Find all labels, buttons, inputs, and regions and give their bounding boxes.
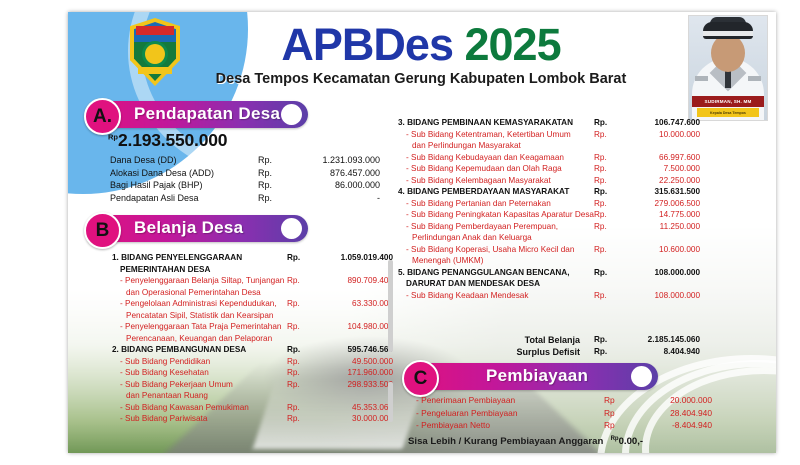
- item-label: - Pengelolaan Administrasi Kependudukan,: [120, 299, 277, 308]
- item-value: 876.457.000: [272, 168, 380, 178]
- list-item: DARURAT DAN MENDESAK DESA: [398, 279, 708, 291]
- item-label: 1. BIDANG PENYELENGGARAAN: [112, 253, 242, 262]
- divider-bar-1: [388, 260, 393, 352]
- item-currency: Rp.: [287, 414, 300, 423]
- list-item: Bagi Hasil Pajak (BHP)Rp.86.000.000: [110, 180, 390, 193]
- pendapatan-currency: Rp: [108, 133, 118, 142]
- item-value: 11.250.000: [608, 222, 700, 231]
- section-c-knob-icon: [631, 366, 652, 387]
- title-main: APBDes: [281, 19, 453, 70]
- item-label: Dana Desa (DD): [110, 155, 177, 165]
- belanja-left-list: 1. BIDANG PENYELENGGARAANRp.1.059.019.40…: [112, 253, 412, 426]
- item-value: 1.231.093.000: [272, 155, 380, 165]
- sisa-value: 0.00,-: [619, 436, 644, 447]
- belanja-totals: Total BelanjaRp.2.185.145.060Surplus Def…: [398, 335, 708, 359]
- item-label: - Sub Bidang Koperasi, Usaha Micro Kecil…: [406, 245, 574, 254]
- item-label: - Pembiayaan Netto: [416, 420, 490, 430]
- item-currency: Rp.: [594, 176, 607, 185]
- list-item: - Penerimaan PembiayaanRp20.000.000: [408, 395, 718, 408]
- item-value: 63.330.000: [301, 299, 393, 308]
- item-currency: Rp.: [287, 380, 300, 389]
- total-currency: Rp.: [594, 335, 607, 344]
- item-label: dan Operasional Pemerintahan Desa: [126, 288, 261, 297]
- lombok-barat-crest-icon: [130, 18, 180, 86]
- item-label: - Penerimaan Pembiayaan: [416, 395, 515, 405]
- total-value: 8.404.940: [608, 347, 700, 356]
- section-b-badge: B: [84, 212, 121, 249]
- item-value: 315.631.500: [608, 187, 700, 196]
- list-item: dan Perlindungan Masyarakat: [398, 141, 708, 153]
- list-item: - Sub Bidang PendidikanRp.49.500.000: [112, 357, 412, 369]
- list-item: Perlindungan Anak dan Keluarga: [398, 233, 708, 245]
- list-item: - Sub Bidang Kelembagaan MasyarakatRp.22…: [398, 176, 708, 188]
- list-item: - Sub Bidang Kepemudaan dan Olah RagaRp.…: [398, 164, 708, 176]
- sisa-label: Sisa Lebih / Kurang Pembiayaan Anggaran: [408, 436, 603, 447]
- item-value: 890.709.400: [301, 276, 393, 285]
- list-item: - Pembiayaan NettoRp-8.404.940: [408, 420, 718, 433]
- list-item: - Sub Bidang Kawasan PemukimanRp.45.353.…: [112, 403, 412, 415]
- item-label: Alokasi Dana Desa (ADD): [110, 168, 214, 178]
- list-item: PEMERINTAHAN DESA: [112, 265, 412, 277]
- section-c-title: Pembiayaan: [486, 366, 588, 386]
- item-value: 30.000.000: [301, 414, 393, 423]
- item-currency: Rp.: [258, 155, 272, 165]
- item-value: 14.775.000: [608, 210, 700, 219]
- list-item: 2. BIDANG PEMBANGUNAN DESARp.595.746.560: [112, 345, 412, 357]
- item-label: Menengah (UMKM): [412, 256, 483, 265]
- total-currency: Rp.: [594, 347, 607, 356]
- item-value: 104.980.000: [301, 322, 393, 331]
- item-currency: Rp: [604, 420, 615, 430]
- section-a-header: A. Pendapatan Desa: [90, 101, 308, 128]
- list-item: - Sub Bidang Ketentraman, Ketertiban Umu…: [398, 130, 708, 142]
- list-item: 5. BIDANG PENANGGULANGAN BENCANA,Rp.108.…: [398, 268, 708, 280]
- item-value: 10.000.000: [608, 130, 700, 139]
- list-item: - Sub Bidang Peningkatan Kapasitas Apara…: [398, 210, 708, 222]
- item-currency: Rp.: [258, 193, 272, 203]
- item-value: 108.000.000: [608, 268, 700, 277]
- item-value: 171.960.000: [301, 368, 393, 377]
- list-item: 3. BIDANG PEMBINAAN KEMASYARAKATANRp.106…: [398, 118, 708, 130]
- item-currency: Rp.: [287, 299, 300, 308]
- title-year: 2025: [464, 19, 560, 70]
- item-value: -8.404.940: [620, 420, 712, 430]
- item-label: 2. BIDANG PEMBANGUNAN DESA: [112, 345, 246, 354]
- section-c-badge: C: [402, 360, 439, 397]
- item-value: 595.746.560: [301, 345, 393, 354]
- item-label: dan Perlindungan Masyarakat: [412, 141, 521, 150]
- list-item: - Sub Bidang Pemberdayaan Perempuan,Rp.1…: [398, 222, 708, 234]
- pembiayaan-list: - Penerimaan PembiayaanRp20.000.000- Pen…: [408, 395, 718, 433]
- item-value: 45.353.060: [301, 403, 393, 412]
- item-value: 20.000.000: [620, 395, 712, 405]
- list-item: dan Operasional Pemerintahan Desa: [112, 288, 412, 300]
- list-item: - Pengeluaran PembiayaanRp28.404.940: [408, 408, 718, 421]
- item-currency: Rp.: [287, 345, 300, 354]
- item-value: 108.000.000: [608, 291, 700, 300]
- item-label: - Sub Bidang Pekerjaan Umum: [120, 380, 233, 389]
- item-currency: Rp: [604, 408, 615, 418]
- list-item: - Sub Bidang KesehatanRp.171.960.000: [112, 368, 412, 380]
- item-currency: Rp.: [594, 199, 607, 208]
- item-label: 4. BIDANG PEMBERDAYAAN MASYARAKAT: [398, 187, 569, 196]
- item-label: - Sub Bidang Pertanian dan Peternakan: [406, 199, 551, 208]
- section-a-title: Pendapatan Desa: [134, 104, 280, 124]
- page-title: APBDes 2025 Desa Tempos Kecamatan Gerung…: [186, 20, 656, 87]
- total-value: 2.185.145.060: [608, 335, 700, 344]
- item-currency: Rp.: [594, 153, 607, 162]
- poster-header: APBDes 2025 Desa Tempos Kecamatan Gerung…: [68, 12, 776, 98]
- item-label: - Sub Bidang Ketentraman, Ketertiban Umu…: [406, 130, 571, 139]
- list-item: - Pengelolaan Administrasi Kependudukan,…: [112, 299, 412, 311]
- section-b-header: B Belanja Desa: [90, 215, 308, 242]
- item-currency: Rp.: [287, 403, 300, 412]
- item-currency: Rp.: [287, 276, 300, 285]
- item-currency: Rp.: [594, 291, 607, 300]
- item-label: - Penyelenggaraan Belanja Siltap, Tunjan…: [120, 276, 284, 285]
- list-item: 4. BIDANG PEMBERDAYAAN MASYARAKATRp.315.…: [398, 187, 708, 199]
- item-label: 3. BIDANG PEMBINAAN KEMASYARAKATAN: [398, 118, 573, 127]
- item-label: - Sub Bidang Pendidikan: [120, 357, 210, 366]
- item-value: 10.600.000: [608, 245, 700, 254]
- divider-bar-2: [388, 382, 393, 422]
- item-label: Pencatatan Sipil, Statistik dan Kearsipa…: [126, 311, 273, 320]
- item-currency: Rp.: [594, 118, 607, 127]
- list-item: - Sub Bidang PariwisataRp.30.000.000: [112, 414, 412, 426]
- item-value: 28.404.940: [620, 408, 712, 418]
- belanja-right-list: 3. BIDANG PEMBINAAN KEMASYARAKATANRp.106…: [398, 118, 708, 302]
- pendapatan-total: Rp2.193.550.000: [108, 130, 227, 151]
- item-currency: Rp.: [594, 130, 607, 139]
- item-currency: Rp: [604, 395, 615, 405]
- item-currency: Rp.: [287, 357, 300, 366]
- list-item: Perencanaan, Keuangan dan Pelaporan: [112, 334, 412, 346]
- item-currency: Rp.: [594, 164, 607, 173]
- item-label: Bagi Hasil Pajak (BHP): [110, 180, 203, 190]
- list-item: - Sub Bidang Pertanian dan PeternakanRp.…: [398, 199, 708, 211]
- item-currency: Rp.: [594, 187, 607, 196]
- section-b-title: Belanja Desa: [134, 218, 243, 238]
- portrait-name: SUDIRMAN, SH. MM: [692, 96, 764, 107]
- item-label: Perlindungan Anak dan Keluarga: [412, 233, 532, 242]
- item-currency: Rp.: [594, 268, 607, 277]
- item-currency: Rp.: [258, 180, 272, 190]
- list-item: Dana Desa (DD)Rp.1.231.093.000: [110, 155, 390, 168]
- section-c-header: C Pembiayaan: [408, 363, 658, 390]
- item-label: - Sub Bidang Keadaan Mendesak: [406, 291, 528, 300]
- item-currency: Rp.: [287, 322, 300, 331]
- list-item: - Sub Bidang Keadaan MendesakRp.108.000.…: [398, 291, 708, 303]
- item-value: 7.500.000: [608, 164, 700, 173]
- item-label: PEMERINTAHAN DESA: [120, 265, 210, 274]
- item-value: 49.500.000: [301, 357, 393, 366]
- item-label: - Sub Bidang Kesehatan: [120, 368, 209, 377]
- item-value: 279.006.500: [608, 199, 700, 208]
- pendapatan-amount: 2.193.550.000: [118, 130, 227, 150]
- item-value: 298.933.500: [301, 380, 393, 389]
- list-item: Alokasi Dana Desa (ADD)Rp.876.457.000: [110, 168, 390, 181]
- item-value: 66.997.600: [608, 153, 700, 162]
- item-currency: Rp.: [287, 368, 300, 377]
- item-label: Perencanaan, Keuangan dan Pelaporan: [126, 334, 272, 343]
- item-label: - Sub Bidang Pariwisata: [120, 414, 207, 423]
- item-label: - Penyelenggaraan Tata Praja Pemerintaha…: [120, 322, 281, 331]
- apbdes-poster: APBDes 2025 Desa Tempos Kecamatan Gerung…: [68, 12, 776, 453]
- item-value: 86.000.000: [272, 180, 380, 190]
- item-value: 1.059.019.400: [301, 253, 393, 262]
- total-label: Total Belanja: [494, 335, 580, 345]
- item-currency: Rp.: [287, 253, 300, 262]
- pembiayaan-footer: Sisa Lebih / Kurang Pembiayaan Anggaran …: [408, 436, 728, 447]
- section-b-knob-icon: [281, 218, 302, 239]
- list-item: - Sub Bidang Pekerjaan UmumRp.298.933.50…: [112, 380, 412, 392]
- list-item: dan Penantaan Ruang: [112, 391, 412, 403]
- item-label: - Sub Bidang Kawasan Pemukiman: [120, 403, 249, 412]
- item-currency: Rp.: [594, 245, 607, 254]
- list-item: Pendapatan Asli DesaRp.-: [110, 193, 390, 206]
- list-item: - Penyelenggaraan Tata Praja Pemerintaha…: [112, 322, 412, 334]
- item-label: - Sub Bidang Peningkatan Kapasitas Apara…: [406, 210, 594, 219]
- item-value: -: [272, 193, 380, 203]
- list-item: Pencatatan Sipil, Statistik dan Kearsipa…: [112, 311, 412, 323]
- item-label: - Sub Bidang Kelembagaan Masyarakat: [406, 176, 551, 185]
- item-label: - Sub Bidang Pemberdayaan Perempuan,: [406, 222, 558, 231]
- item-label: dan Penantaan Ruang: [126, 391, 208, 400]
- item-label: 5. BIDANG PENANGGULANGAN BENCANA,: [398, 268, 570, 277]
- item-value: 22.250.000: [608, 176, 700, 185]
- item-value: 106.747.600: [608, 118, 700, 127]
- pendapatan-item-list: Dana Desa (DD)Rp.1.231.093.000Alokasi Da…: [110, 155, 390, 205]
- total-row: Surplus DefisitRp.8.404.940: [398, 347, 708, 359]
- item-label: - Sub Bidang Kebudayaan dan Keagamaan: [406, 153, 564, 162]
- item-currency: Rp.: [594, 210, 607, 219]
- list-item: - Sub Bidang Kebudayaan dan KeagamaanRp.…: [398, 153, 708, 165]
- item-label: - Pengeluaran Pembiayaan: [416, 408, 518, 418]
- portrait-role: Kepala Desa Tempos: [697, 108, 759, 117]
- list-item: - Penyelenggaraan Belanja Siltap, Tunjan…: [112, 276, 412, 288]
- section-a-knob-icon: [281, 104, 302, 125]
- village-head-portrait: SUDIRMAN, SH. MM Kepala Desa Tempos: [688, 15, 768, 121]
- sisa-currency: Rp: [611, 436, 619, 442]
- list-item: Menengah (UMKM): [398, 256, 708, 268]
- item-label: Pendapatan Asli Desa: [110, 193, 199, 203]
- item-currency: Rp.: [258, 168, 272, 178]
- title-subtitle: Desa Tempos Kecamatan Gerung Kabupaten L…: [186, 71, 656, 87]
- total-row: Total BelanjaRp.2.185.145.060: [398, 335, 708, 347]
- item-label: - Sub Bidang Kepemudaan dan Olah Raga: [406, 164, 562, 173]
- item-label: DARURAT DAN MENDESAK DESA: [406, 279, 540, 288]
- list-item: 1. BIDANG PENYELENGGARAANRp.1.059.019.40…: [112, 253, 412, 265]
- total-label: Surplus Defisit: [494, 347, 580, 357]
- list-item: - Sub Bidang Koperasi, Usaha Micro Kecil…: [398, 245, 708, 257]
- item-currency: Rp.: [594, 222, 607, 231]
